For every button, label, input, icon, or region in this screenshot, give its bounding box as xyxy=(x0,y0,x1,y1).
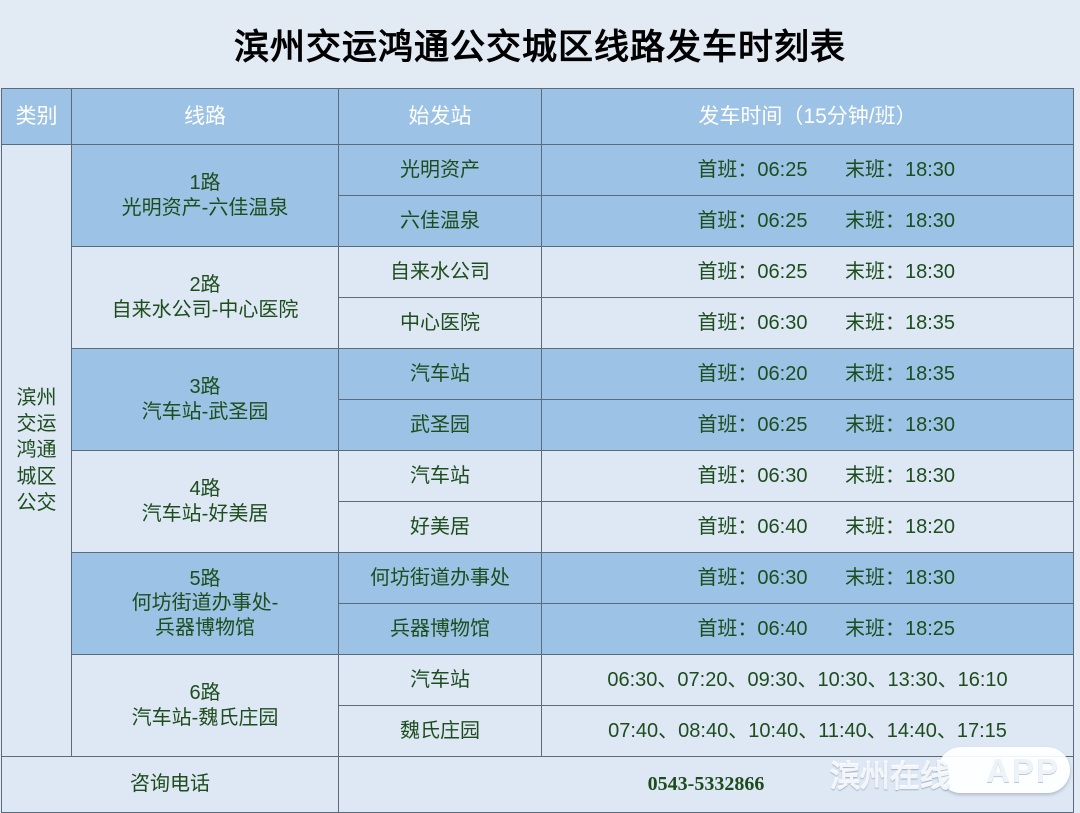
times-cell: 06:30、07:20、09:30、10:30、13:30、16:10 xyxy=(542,655,1074,706)
first-departure: 首班：06:25 xyxy=(660,413,845,437)
last-departure: 末班：18:30 xyxy=(845,260,955,284)
route-name: 汽车站-好美居 xyxy=(76,502,334,526)
route-cell: 5路何坊街道办事处-兵器博物馆 xyxy=(72,553,339,655)
origin-cell: 武圣园 xyxy=(339,400,542,451)
title-bar: 滨州交运鸿通公交城区线路发车时刻表 xyxy=(0,0,1080,88)
table-row: 2路自来水公司-中心医院自来水公司首班：06:25末班：18:30 xyxy=(2,247,1074,298)
route-name: 汽车站-魏氏庄园 xyxy=(76,706,334,730)
times-list: 06:30、07:20、09:30、10:30、13:30、16:10 xyxy=(607,669,1007,691)
origin-cell: 兵器博物馆 xyxy=(339,604,542,655)
bus-timetable: 类别 线路 始发站 发车时间（15分钟/班） 滨州交运鸿通城区公交1路光明资产-… xyxy=(1,88,1074,813)
times-cell: 07:40、08:40、10:40、11:40、14:40、17:15 xyxy=(542,706,1074,757)
page-title: 滨州交运鸿通公交城区线路发车时刻表 xyxy=(234,19,846,70)
origin-cell: 自来水公司 xyxy=(339,247,542,298)
first-departure: 首班：06:25 xyxy=(660,260,845,284)
class-label: 滨州交运鸿通城区公交 xyxy=(16,385,58,517)
times-cell: 首班：06:25末班：18:30 xyxy=(542,145,1074,196)
table-body: 滨州交运鸿通城区公交1路光明资产-六佳温泉光明资产首班：06:25末班：18:3… xyxy=(2,145,1074,813)
route-cell: 6路汽车站-魏氏庄园 xyxy=(72,655,339,757)
header-times: 发车时间（15分钟/班） xyxy=(542,89,1074,145)
origin-cell: 光明资产 xyxy=(339,145,542,196)
route-number: 3路 xyxy=(76,375,334,399)
last-departure: 末班：18:30 xyxy=(845,158,955,182)
times-cell: 首班：06:40末班：18:25 xyxy=(542,604,1074,655)
route-cell: 4路汽车站-好美居 xyxy=(72,451,339,553)
table-row: 6路汽车站-魏氏庄园汽车站06:30、07:20、09:30、10:30、13:… xyxy=(2,655,1074,706)
first-departure: 首班：06:25 xyxy=(660,158,845,182)
times-cell: 首班：06:30末班：18:30 xyxy=(542,553,1074,604)
origin-cell: 六佳温泉 xyxy=(339,196,542,247)
route-name: 光明资产-六佳温泉 xyxy=(76,196,334,220)
timetable-container: 类别 线路 始发站 发车时间（15分钟/班） 滨州交运鸿通城区公交1路光明资产-… xyxy=(0,88,1080,813)
origin-cell: 何坊街道办事处 xyxy=(339,553,542,604)
last-departure: 末班：18:30 xyxy=(845,464,955,488)
route-cell: 3路汽车站-武圣园 xyxy=(72,349,339,451)
times-cell: 首班：06:30末班：18:30 xyxy=(542,451,1074,502)
route-number: 2路 xyxy=(76,273,334,297)
times-cell: 首班：06:30末班：18:35 xyxy=(542,298,1074,349)
last-departure: 末班：18:30 xyxy=(845,413,955,437)
origin-cell: 汽车站 xyxy=(339,349,542,400)
route-number: 1路 xyxy=(76,171,334,195)
route-name: 自来水公司-中心医院 xyxy=(76,298,334,322)
table-row: 4路汽车站-好美居汽车站首班：06:30末班：18:30 xyxy=(2,451,1074,502)
route-number: 5路 xyxy=(76,567,334,591)
last-departure: 末班：18:25 xyxy=(845,617,955,641)
origin-cell: 魏氏庄园 xyxy=(339,706,542,757)
table-row: 5路何坊街道办事处-兵器博物馆何坊街道办事处首班：06:30末班：18:30 xyxy=(2,553,1074,604)
last-departure: 末班：18:20 xyxy=(845,515,955,539)
times-cell: 首班：06:40末班：18:20 xyxy=(542,502,1074,553)
route-cell: 1路光明资产-六佳温泉 xyxy=(72,145,339,247)
route-name-line2: 兵器博物馆 xyxy=(76,616,334,640)
origin-cell: 汽车站 xyxy=(339,655,542,706)
origin-cell: 好美居 xyxy=(339,502,542,553)
times-cell: 首班：06:25末班：18:30 xyxy=(542,196,1074,247)
route-number: 4路 xyxy=(76,477,334,501)
header-class: 类别 xyxy=(2,89,72,145)
last-departure: 末班：18:30 xyxy=(845,209,955,233)
times-cell: 首班：06:25末班：18:30 xyxy=(542,400,1074,451)
route-name-line1: 何坊街道办事处- xyxy=(76,591,334,615)
first-departure: 首班：06:30 xyxy=(660,464,845,488)
first-departure: 首班：06:30 xyxy=(660,566,845,590)
times-cell: 首班：06:25末班：18:30 xyxy=(542,247,1074,298)
class-cell: 滨州交运鸿通城区公交 xyxy=(2,145,72,757)
last-departure: 末班：18:35 xyxy=(845,311,955,335)
origin-cell: 中心医院 xyxy=(339,298,542,349)
header-origin: 始发站 xyxy=(339,89,542,145)
hotline-label: 咨询电话 xyxy=(2,757,339,813)
table-row: 3路汽车站-武圣园汽车站首班：06:20末班：18:35 xyxy=(2,349,1074,400)
footer-row: 咨询电话0543-5332866 xyxy=(2,757,1074,813)
last-departure: 末班：18:30 xyxy=(845,566,955,590)
route-number: 6路 xyxy=(76,681,334,705)
route-name: 汽车站-武圣园 xyxy=(76,400,334,424)
route-cell: 2路自来水公司-中心医院 xyxy=(72,247,339,349)
first-departure: 首班：06:25 xyxy=(660,209,845,233)
times-list: 07:40、08:40、10:40、11:40、14:40、17:15 xyxy=(608,720,1007,742)
table-header-row: 类别 线路 始发站 发车时间（15分钟/班） xyxy=(2,89,1074,145)
table-row: 滨州交运鸿通城区公交1路光明资产-六佳温泉光明资产首班：06:25末班：18:3… xyxy=(2,145,1074,196)
first-departure: 首班：06:20 xyxy=(660,362,845,386)
header-route: 线路 xyxy=(72,89,339,145)
first-departure: 首班：06:40 xyxy=(660,515,845,539)
hotline-number: 0543-5332866 xyxy=(339,757,1074,813)
times-cell: 首班：06:20末班：18:35 xyxy=(542,349,1074,400)
first-departure: 首班：06:40 xyxy=(660,617,845,641)
origin-cell: 汽车站 xyxy=(339,451,542,502)
last-departure: 末班：18:35 xyxy=(845,362,955,386)
first-departure: 首班：06:30 xyxy=(660,311,845,335)
